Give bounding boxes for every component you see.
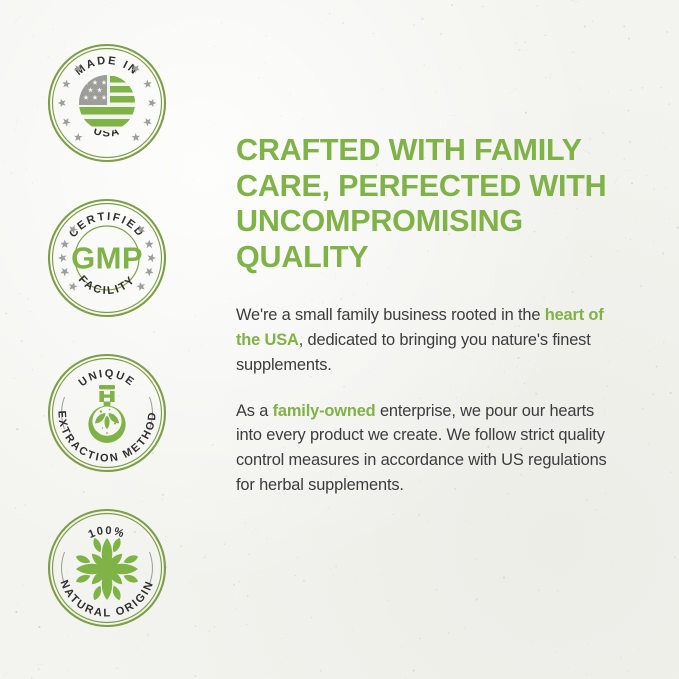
leaf-rosette-icon: [74, 537, 139, 602]
badge-column: MADE IN USA: [0, 0, 213, 679]
body-paragraph-2: As a family-owned enterprise, we pour ou…: [236, 399, 621, 499]
badge-bottom-label: FACILITY: [75, 274, 137, 298]
badge-gmp-certified: CERTIFIED FACILITY: [45, 196, 169, 320]
brand-trust-panel: MADE IN USA: [0, 0, 679, 679]
flask-leaf-icon: [88, 385, 125, 443]
emphasis-text: family-owned: [273, 402, 376, 420]
body-paragraph-1: We're a small family business rooted in …: [236, 303, 621, 378]
page-title: CRAFTED WITH FAMILYCARE, PERFECTED WITHU…: [236, 133, 621, 276]
badge-made-in-usa: MADE IN USA: [45, 41, 169, 165]
text-column: CRAFTED WITH FAMILYCARE, PERFECTED WITHU…: [213, 0, 679, 679]
badge-top-label: MADE IN: [73, 55, 141, 78]
badge-unique-extraction: UNIQUE EXTRACTION METHOD: [45, 351, 169, 475]
gmp-text-icon: GMP: [71, 241, 143, 276]
badge-natural-origin: 100% NATURAL ORIGIN: [45, 506, 169, 630]
usa-flag-circle-icon: [78, 75, 136, 131]
emphasis-text: heart of the USA: [236, 306, 604, 349]
